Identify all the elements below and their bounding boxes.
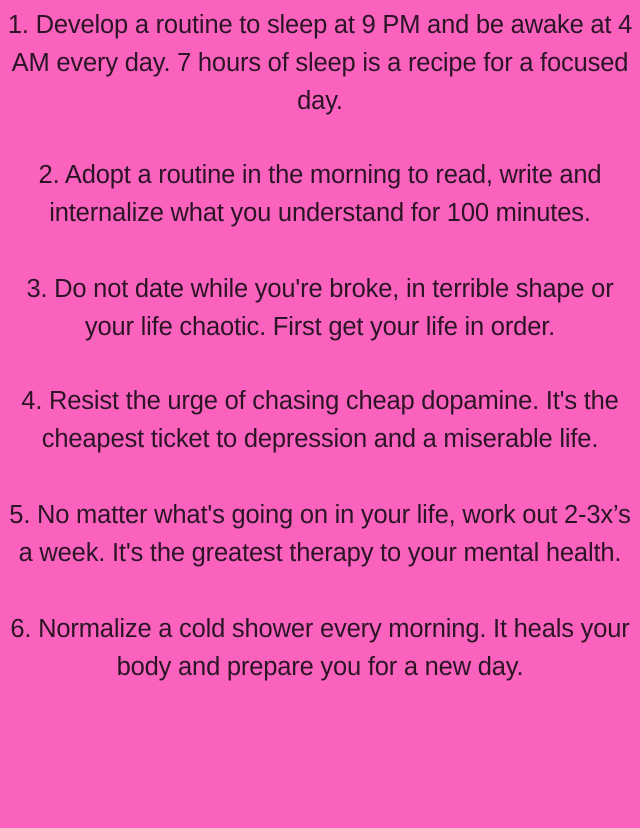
- advice-item-4: 4. Resist the urge of chasing cheap dopa…: [7, 382, 633, 458]
- quote-card: 1. Develop a routine to sleep at 9 PM an…: [0, 0, 640, 828]
- advice-item-3: 3. Do not date while you're broke, in te…: [7, 270, 633, 346]
- advice-item-5: 5. No matter what's going on in your lif…: [7, 496, 633, 572]
- advice-item-2: 2. Adopt a routine in the morning to rea…: [7, 156, 633, 232]
- advice-item-6: 6. Normalize a cold shower every morning…: [7, 610, 633, 686]
- advice-list: 1. Develop a routine to sleep at 9 PM an…: [7, 6, 633, 686]
- advice-item-1: 1. Develop a routine to sleep at 9 PM an…: [7, 6, 633, 120]
